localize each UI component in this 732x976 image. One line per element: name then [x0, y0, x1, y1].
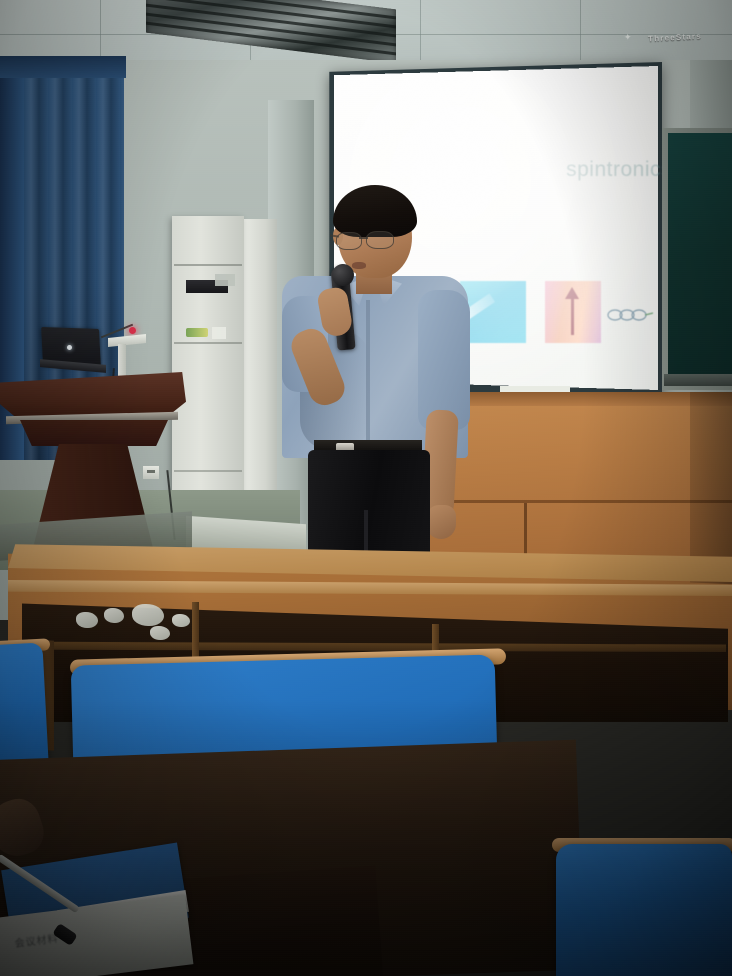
ac-seam-bottom [174, 470, 242, 472]
crumpled-paper-5 [172, 614, 190, 627]
ac-unit-side-panel [240, 219, 277, 519]
chalk-tray [664, 374, 732, 386]
lecture-hall-photo: spintronics [0, 0, 732, 976]
ac-brand-plate [215, 274, 235, 286]
slide-figure-blue-map [460, 281, 526, 343]
crumpled-paper-3 [132, 604, 164, 626]
air-conditioner-unit [172, 216, 244, 498]
ac-energy-sticker [186, 328, 208, 337]
crumpled-paper-4 [150, 626, 170, 640]
mic-status-led [129, 327, 136, 334]
cabinet-horizontal-seam [420, 500, 732, 503]
wall-power-socket [143, 466, 159, 479]
green-chalkboard [668, 133, 732, 381]
cabinet-top-rail [420, 392, 732, 406]
slide-figure-pink-map [545, 281, 601, 343]
laptop-screen-highlight [67, 345, 72, 350]
crumpled-paper-2 [104, 608, 124, 623]
ac-seam-middle [174, 342, 242, 344]
slide-figure-orbital-diagram [605, 303, 653, 327]
curtain-rail [0, 56, 126, 78]
lectern-midsection [20, 420, 168, 446]
ac-seam-top [174, 264, 242, 266]
crumpled-paper-1 [76, 612, 98, 628]
chair-back-right[interactable] [556, 844, 732, 976]
ac-label-tag [212, 327, 226, 339]
slide-title-text: spintronics [392, 158, 672, 182]
